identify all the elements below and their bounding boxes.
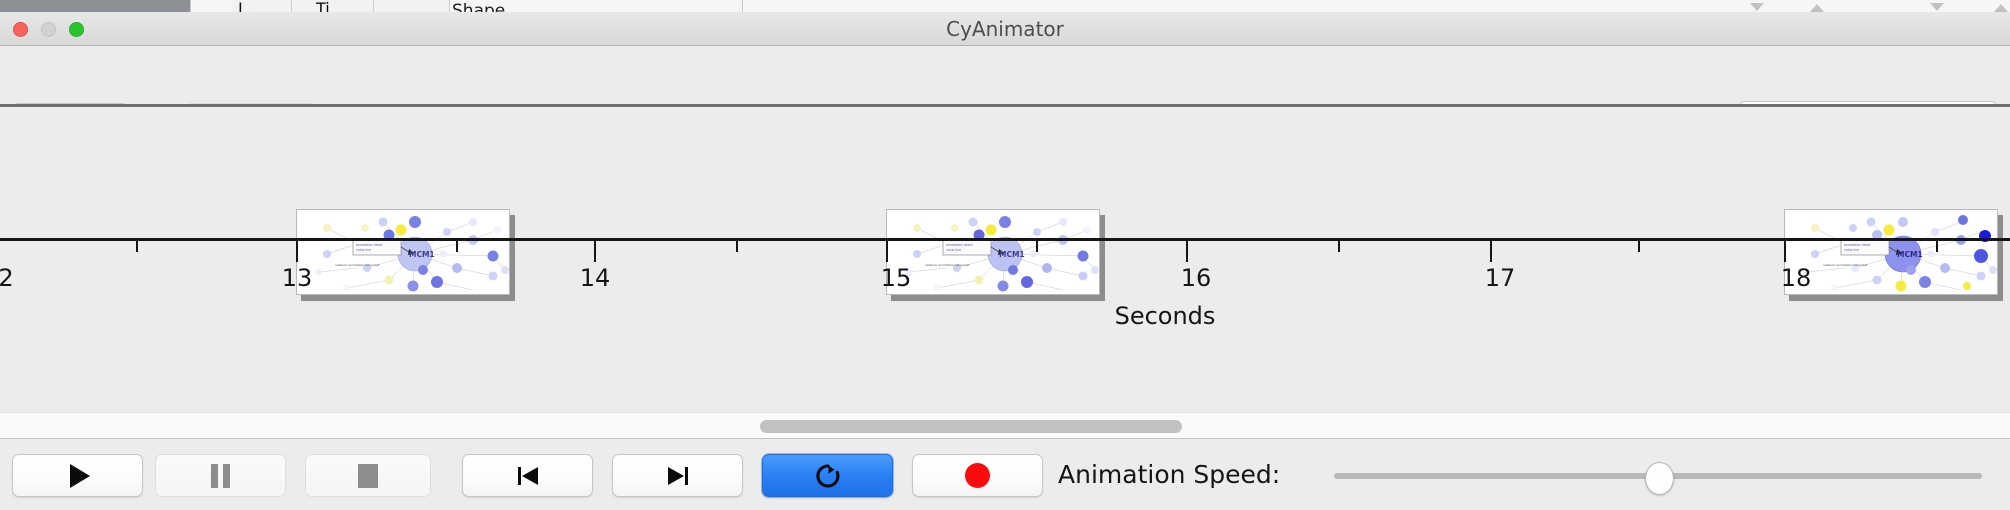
ruler-tick-major <box>594 241 596 262</box>
timeline-horizontal-scrollbar[interactable] <box>0 412 2010 439</box>
svg-text:value line: value line <box>946 248 961 252</box>
timeline-ruler[interactable]: 2 13 14 15 16 17 18 Seconds <box>0 238 2010 239</box>
sort-arrow-icon <box>1810 4 1824 12</box>
animation-speed-label: Animation Speed: <box>1058 440 1280 510</box>
play-button[interactable] <box>12 454 143 497</box>
maximize-window-button[interactable] <box>69 22 84 37</box>
svg-text:MCM1: MCM1 <box>999 250 1025 259</box>
cyanimator-window: I Ti Shape CyAnimator ✚ Clear All Frames <box>0 0 2010 510</box>
record-icon <box>965 463 990 488</box>
minimize-window-button[interactable] <box>41 22 56 37</box>
skip-previous-icon <box>515 463 541 489</box>
svg-text:annotation detail: annotation detail <box>1844 243 1871 247</box>
ruler-label: 15 <box>881 264 912 292</box>
frame-thumbnail-1[interactable]: annotation detail value line MCM1 networ… <box>296 209 515 301</box>
network-thumbnail: annotation detail value line MCM1 networ… <box>886 209 1100 295</box>
svg-text:annotation detail: annotation detail <box>946 243 973 247</box>
ruler-label: 16 <box>1181 264 1212 292</box>
ruler-tick-major <box>1186 241 1188 262</box>
axis-line <box>0 238 2010 241</box>
ruler-tick-major <box>1784 241 1786 262</box>
ruler-tick-major <box>886 241 888 262</box>
ruler-tick-minor <box>736 241 738 252</box>
network-thumbnail: annotation detail value line MCM1 networ… <box>1784 209 1998 295</box>
svg-text:network annotation label text: network annotation label text <box>1823 263 1868 267</box>
page-title: CyAnimator <box>0 12 2010 46</box>
ruler-tick-minor <box>1936 241 1938 252</box>
svg-text:MCM1: MCM1 <box>409 250 435 259</box>
ruler-label: 13 <box>282 264 313 292</box>
playback-controls: Animation Speed: <box>0 440 2010 510</box>
background-selected-tab <box>0 0 190 12</box>
titlebar[interactable]: CyAnimator <box>0 12 2010 46</box>
sort-arrow-icon <box>1750 3 1764 11</box>
ruler-tick-minor <box>136 241 138 252</box>
svg-text:annotation detail: annotation detail <box>356 243 383 247</box>
ruler-label: 14 <box>580 264 611 292</box>
stop-icon <box>358 464 378 488</box>
animation-speed-slider[interactable] <box>1334 454 1982 497</box>
axis-title: Seconds <box>0 302 2010 330</box>
frame-thumbnail-2[interactable]: annotation detail value line MCM1 networ… <box>886 209 1105 301</box>
ruler-tick-minor <box>1036 241 1038 252</box>
sort-arrow-icon <box>1994 4 2008 12</box>
ruler-tick-major <box>1490 241 1492 262</box>
stop-button[interactable] <box>305 454 431 497</box>
background-window-strip: I Ti Shape <box>0 0 2010 12</box>
ruler-tick-major <box>296 241 298 262</box>
frame-thumbnail-3[interactable]: annotation detail value line MCM1 networ… <box>1784 209 2003 301</box>
network-thumbnail: annotation detail value line MCM1 networ… <box>296 209 510 295</box>
pause-icon <box>211 464 230 488</box>
record-button[interactable] <box>912 454 1043 497</box>
background-divider <box>742 0 743 12</box>
ruler-tick-minor <box>456 241 458 252</box>
background-window-label: Shape <box>452 1 505 12</box>
play-icon <box>70 464 90 488</box>
timeline-panel[interactable]: annotation detail value line MCM1 networ… <box>0 107 2010 412</box>
pause-button[interactable] <box>155 454 286 497</box>
next-frame-button[interactable] <box>612 454 743 497</box>
ruler-label: 2 <box>0 264 14 292</box>
sort-arrow-icon <box>1930 3 1944 11</box>
svg-text:network annotation label text: network annotation label text <box>925 263 970 267</box>
previous-frame-button[interactable] <box>462 454 593 497</box>
close-window-button[interactable] <box>13 22 28 37</box>
background-divider <box>190 0 191 12</box>
loop-button[interactable] <box>762 454 893 497</box>
frame-toolbar: ✚ Clear All Frames <box>0 46 2010 107</box>
ruler-label: 17 <box>1485 264 1516 292</box>
svg-text:MCM1: MCM1 <box>1897 250 1923 259</box>
background-tab <box>292 0 374 12</box>
scrollbar-thumb[interactable] <box>760 420 1182 433</box>
ruler-tick-minor <box>1338 241 1340 252</box>
skip-next-icon <box>665 463 691 489</box>
svg-text:network annotation label text: network annotation label text <box>335 263 380 267</box>
ruler-label: 18 <box>1781 264 1812 292</box>
svg-text:value line: value line <box>1844 248 1859 252</box>
background-tab <box>374 0 450 12</box>
svg-text:value line: value line <box>356 248 371 252</box>
ruler-tick-minor <box>1638 241 1640 252</box>
slider-thumb[interactable] <box>1645 462 1674 495</box>
loop-icon <box>813 461 843 491</box>
